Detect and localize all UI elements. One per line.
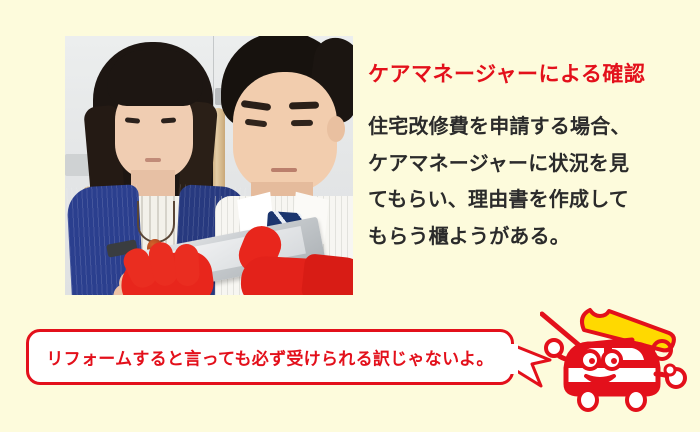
speech-bubble-text: リフォームすると言っても必ず受けられる訳じゃないよ。: [29, 345, 511, 370]
woman-bangs: [107, 50, 203, 106]
woman-eye-right: [161, 117, 176, 123]
page-root: ケアマネージャーによる確認 住宅改修費を申請する場合、 ケアマネージャーに状況を…: [0, 0, 700, 432]
woman-mouth: [145, 158, 161, 162]
article-body-line-1: 住宅改修費を申請する場合、: [368, 109, 688, 146]
mascot-left-arm: [546, 340, 570, 360]
article-body-line-3: てもらい、理由書を作成して: [368, 182, 688, 219]
man-mouth: [271, 168, 297, 172]
article-heading: ケアマネージャーによる確認: [368, 62, 688, 87]
red-glove-right-cuff: [301, 253, 353, 295]
article-body-line-4: もらう櫃ようがある。: [368, 219, 688, 256]
man-ear: [327, 116, 345, 142]
article-photo: [65, 36, 353, 295]
man-face: [233, 72, 337, 192]
article-body: 住宅改修費を申請する場合、 ケアマネージャーに状況を見 てもらい、理由書を作成し…: [368, 109, 688, 255]
man-eye-right: [291, 120, 313, 126]
woman-necklace-cord: [137, 201, 175, 243]
man-eyebrow-right: [289, 101, 319, 109]
speech-bubble: リフォームすると言っても必ず受けられる訳じゃないよ。: [26, 329, 514, 385]
red-glove-left-finger-3: [174, 243, 200, 286]
mascot-character: [540, 304, 692, 416]
article-body-line-2: ケアマネージャーに状況を見: [368, 146, 688, 183]
article-text-column: ケアマネージャーによる確認 住宅改修費を申請する場合、 ケアマネージャーに状況を…: [368, 62, 688, 256]
